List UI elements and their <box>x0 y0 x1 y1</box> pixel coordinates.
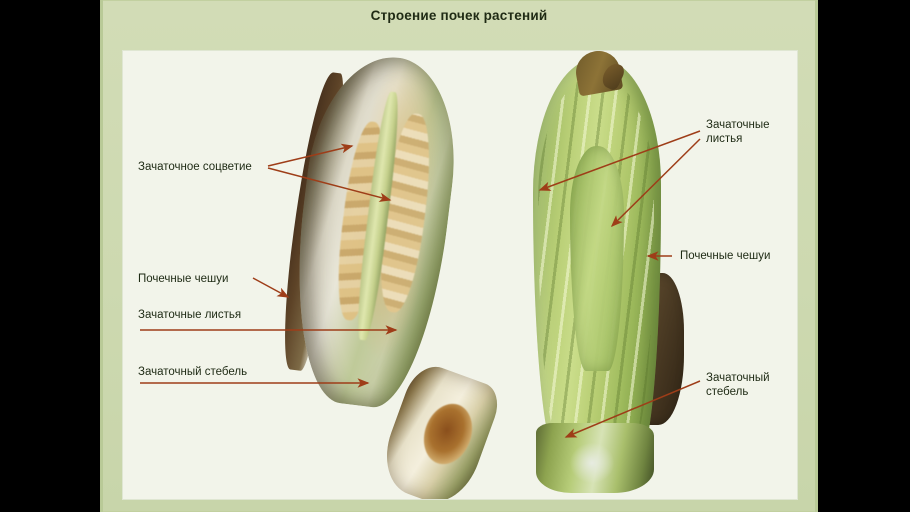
label-stem-primordium-right: Зачаточный стебель <box>706 371 770 399</box>
figure-chestnut-generative-bud <box>273 51 483 499</box>
label-bud-scales-right: Почечные чешуи <box>680 249 770 263</box>
label-stem-primordium-left: Зачаточный стебель <box>138 365 247 379</box>
label-leaf-primordia-left: Зачаточные листья <box>138 308 241 322</box>
panel-right-edge <box>815 0 818 512</box>
label-inflorescence-primordium: Зачаточное соцветие <box>138 160 252 174</box>
label-leaf-primordia-right: Зачаточные листья <box>706 118 770 146</box>
figure-lilac-vegetative-bud <box>518 51 718 499</box>
panel-left-edge <box>100 0 103 512</box>
label-bud-scales-left: Почечные чешуи <box>138 272 228 286</box>
slide-stage: Строение почек растений Генеративная поч… <box>0 0 910 512</box>
page-title: Строение почек растений <box>100 8 818 23</box>
lilac-inner-leaf-primordia <box>570 146 624 371</box>
lilac-stem-highlight <box>570 443 614 483</box>
